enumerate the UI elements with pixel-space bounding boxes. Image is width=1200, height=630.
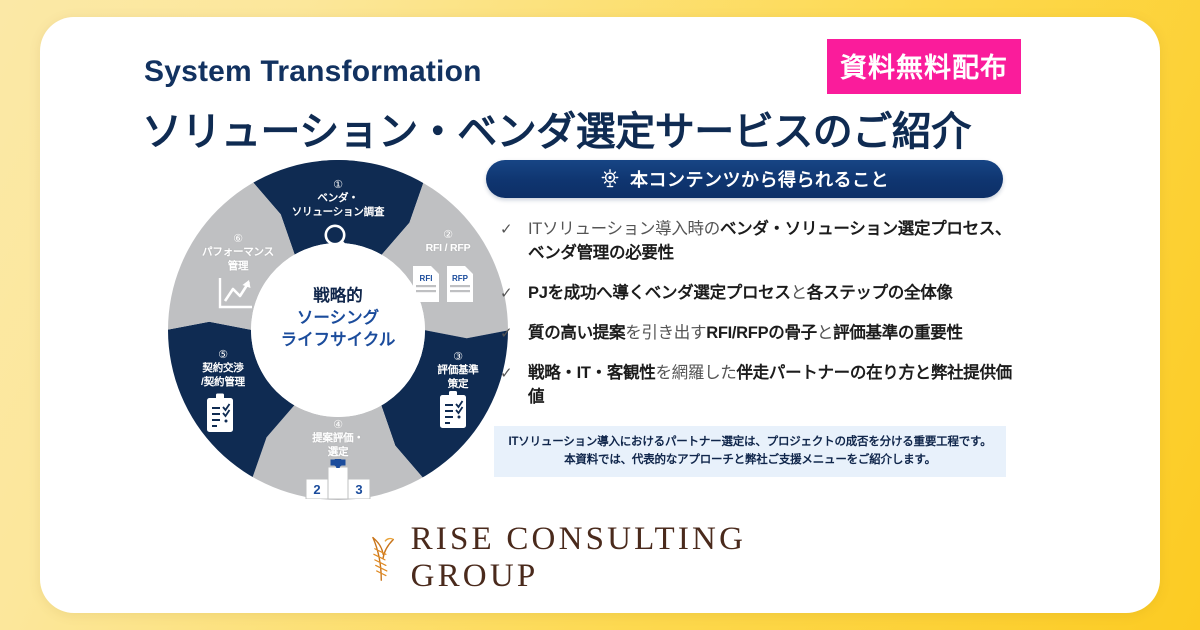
benefits-panel-heading-text: 本コンテンツから得られること	[630, 166, 889, 192]
benefits-panel: 本コンテンツから得られること ✓ITソリューション導入時のベンダ・ソリューション…	[486, 160, 1026, 477]
benefit-emphasis: 評価基準の重要性	[833, 324, 963, 342]
segment-label-4: ④提案評価・選定	[288, 418, 388, 459]
wheat-emblem-icon	[360, 532, 403, 584]
page-title: ソリューション・ベンダ選定サービスのご紹介	[142, 99, 971, 157]
diagram-center-text: 戦略的 ソーシング ライフサイクル	[258, 285, 418, 351]
benefit-item-2: ✓PJを成功へ導くベンダ選定プロセスと各ステップの全体像	[494, 282, 1026, 306]
benefit-emphasis: 質の高い提案	[528, 324, 625, 342]
benefit-item-4: ✓戦略・IT・客観性を網羅した伴走パートナーの在り方と弊社提供価値	[494, 362, 1026, 410]
segment-number-6: ⑥	[176, 232, 300, 246]
benefit-emphasis: RFI/RFPの骨子	[706, 324, 817, 342]
check-icon: ✓	[500, 323, 512, 345]
benefits-list: ✓ITソリューション導入時のベンダ・ソリューション選定プロセス、ベンダ管理の必要…	[494, 218, 1026, 410]
segment-label-5: ⑤契約交渉/契約管理	[171, 348, 275, 389]
note-line-1: ITソリューション導入におけるパートナー選定は、プロジェクトの成否を分ける重要工…	[504, 433, 996, 451]
check-icon: ✓	[500, 283, 512, 305]
doc-label-rfi: RFI	[420, 274, 433, 283]
benefit-text: と	[791, 284, 807, 302]
podium-icon: 2 3	[302, 459, 374, 499]
center-line-2: ソーシング	[258, 307, 418, 329]
benefit-text: ITソリューション導入時の	[528, 220, 720, 238]
benefits-panel-header: 本コンテンツから得られること	[486, 160, 1003, 198]
benefit-emphasis: PJを成功へ導くベンダ選定プロセス	[528, 284, 791, 302]
logo-text: RISE CONSULTING GROUP	[411, 521, 850, 595]
podium-label-2: 2	[313, 482, 320, 497]
clipboard-check-icon	[437, 390, 469, 430]
benefit-text: を引き出す	[625, 324, 706, 342]
center-line-1: 戦略的	[258, 285, 418, 307]
content-card: System Transformation ソリューション・ベンダ選定サービスの…	[40, 17, 1160, 613]
benefit-text: を網羅した	[655, 364, 736, 382]
benefit-item-1: ✓ITソリューション導入時のベンダ・ソリューション選定プロセス、ベンダ管理の必要…	[494, 218, 1026, 266]
free-material-badge: 資料無料配布	[827, 39, 1021, 94]
benefit-emphasis: 各ステップの全体像	[807, 284, 953, 302]
eyebrow-title: System Transformation	[144, 55, 482, 89]
magnifier-icon	[320, 222, 356, 256]
clipboard-list-icon	[204, 392, 236, 434]
benefit-item-3: ✓質の高い提案を引き出すRFI/RFPの骨子と評価基準の重要性	[494, 322, 1026, 346]
benefit-emphasis: 戦略・IT・客観性	[528, 364, 655, 382]
podium-label-3: 3	[355, 482, 362, 497]
note-box: ITソリューション導入におけるパートナー選定は、プロジェクトの成否を分ける重要工…	[494, 426, 1006, 478]
note-line-2: 本資料では、代表的なアプローチと弊社ご支援メニューをご紹介します。	[504, 451, 996, 469]
check-icon: ✓	[500, 363, 512, 385]
center-line-3: ライフサイクル	[258, 329, 418, 351]
doc-label-rfp: RFP	[452, 274, 469, 283]
segment-label-1: ①ベンダ・ソリューション調査	[262, 178, 414, 219]
company-logo: RISE CONSULTING GROUP	[360, 527, 850, 589]
segment-number-4: ④	[288, 418, 388, 432]
lightbulb-icon	[600, 169, 620, 189]
documents-icon: RFI RFP	[412, 265, 478, 303]
check-icon: ✓	[500, 219, 512, 241]
sourcing-lifecycle-diagram: ①ベンダ・ソリューション調査 ②RFI / RFP RFI RFP ③評価基準策…	[168, 160, 508, 500]
segment-label-6: ⑥パフォーマンス管理	[176, 232, 300, 273]
chart-up-icon	[216, 277, 256, 311]
segment-number-1: ①	[262, 178, 414, 192]
benefit-text: と	[817, 324, 833, 342]
